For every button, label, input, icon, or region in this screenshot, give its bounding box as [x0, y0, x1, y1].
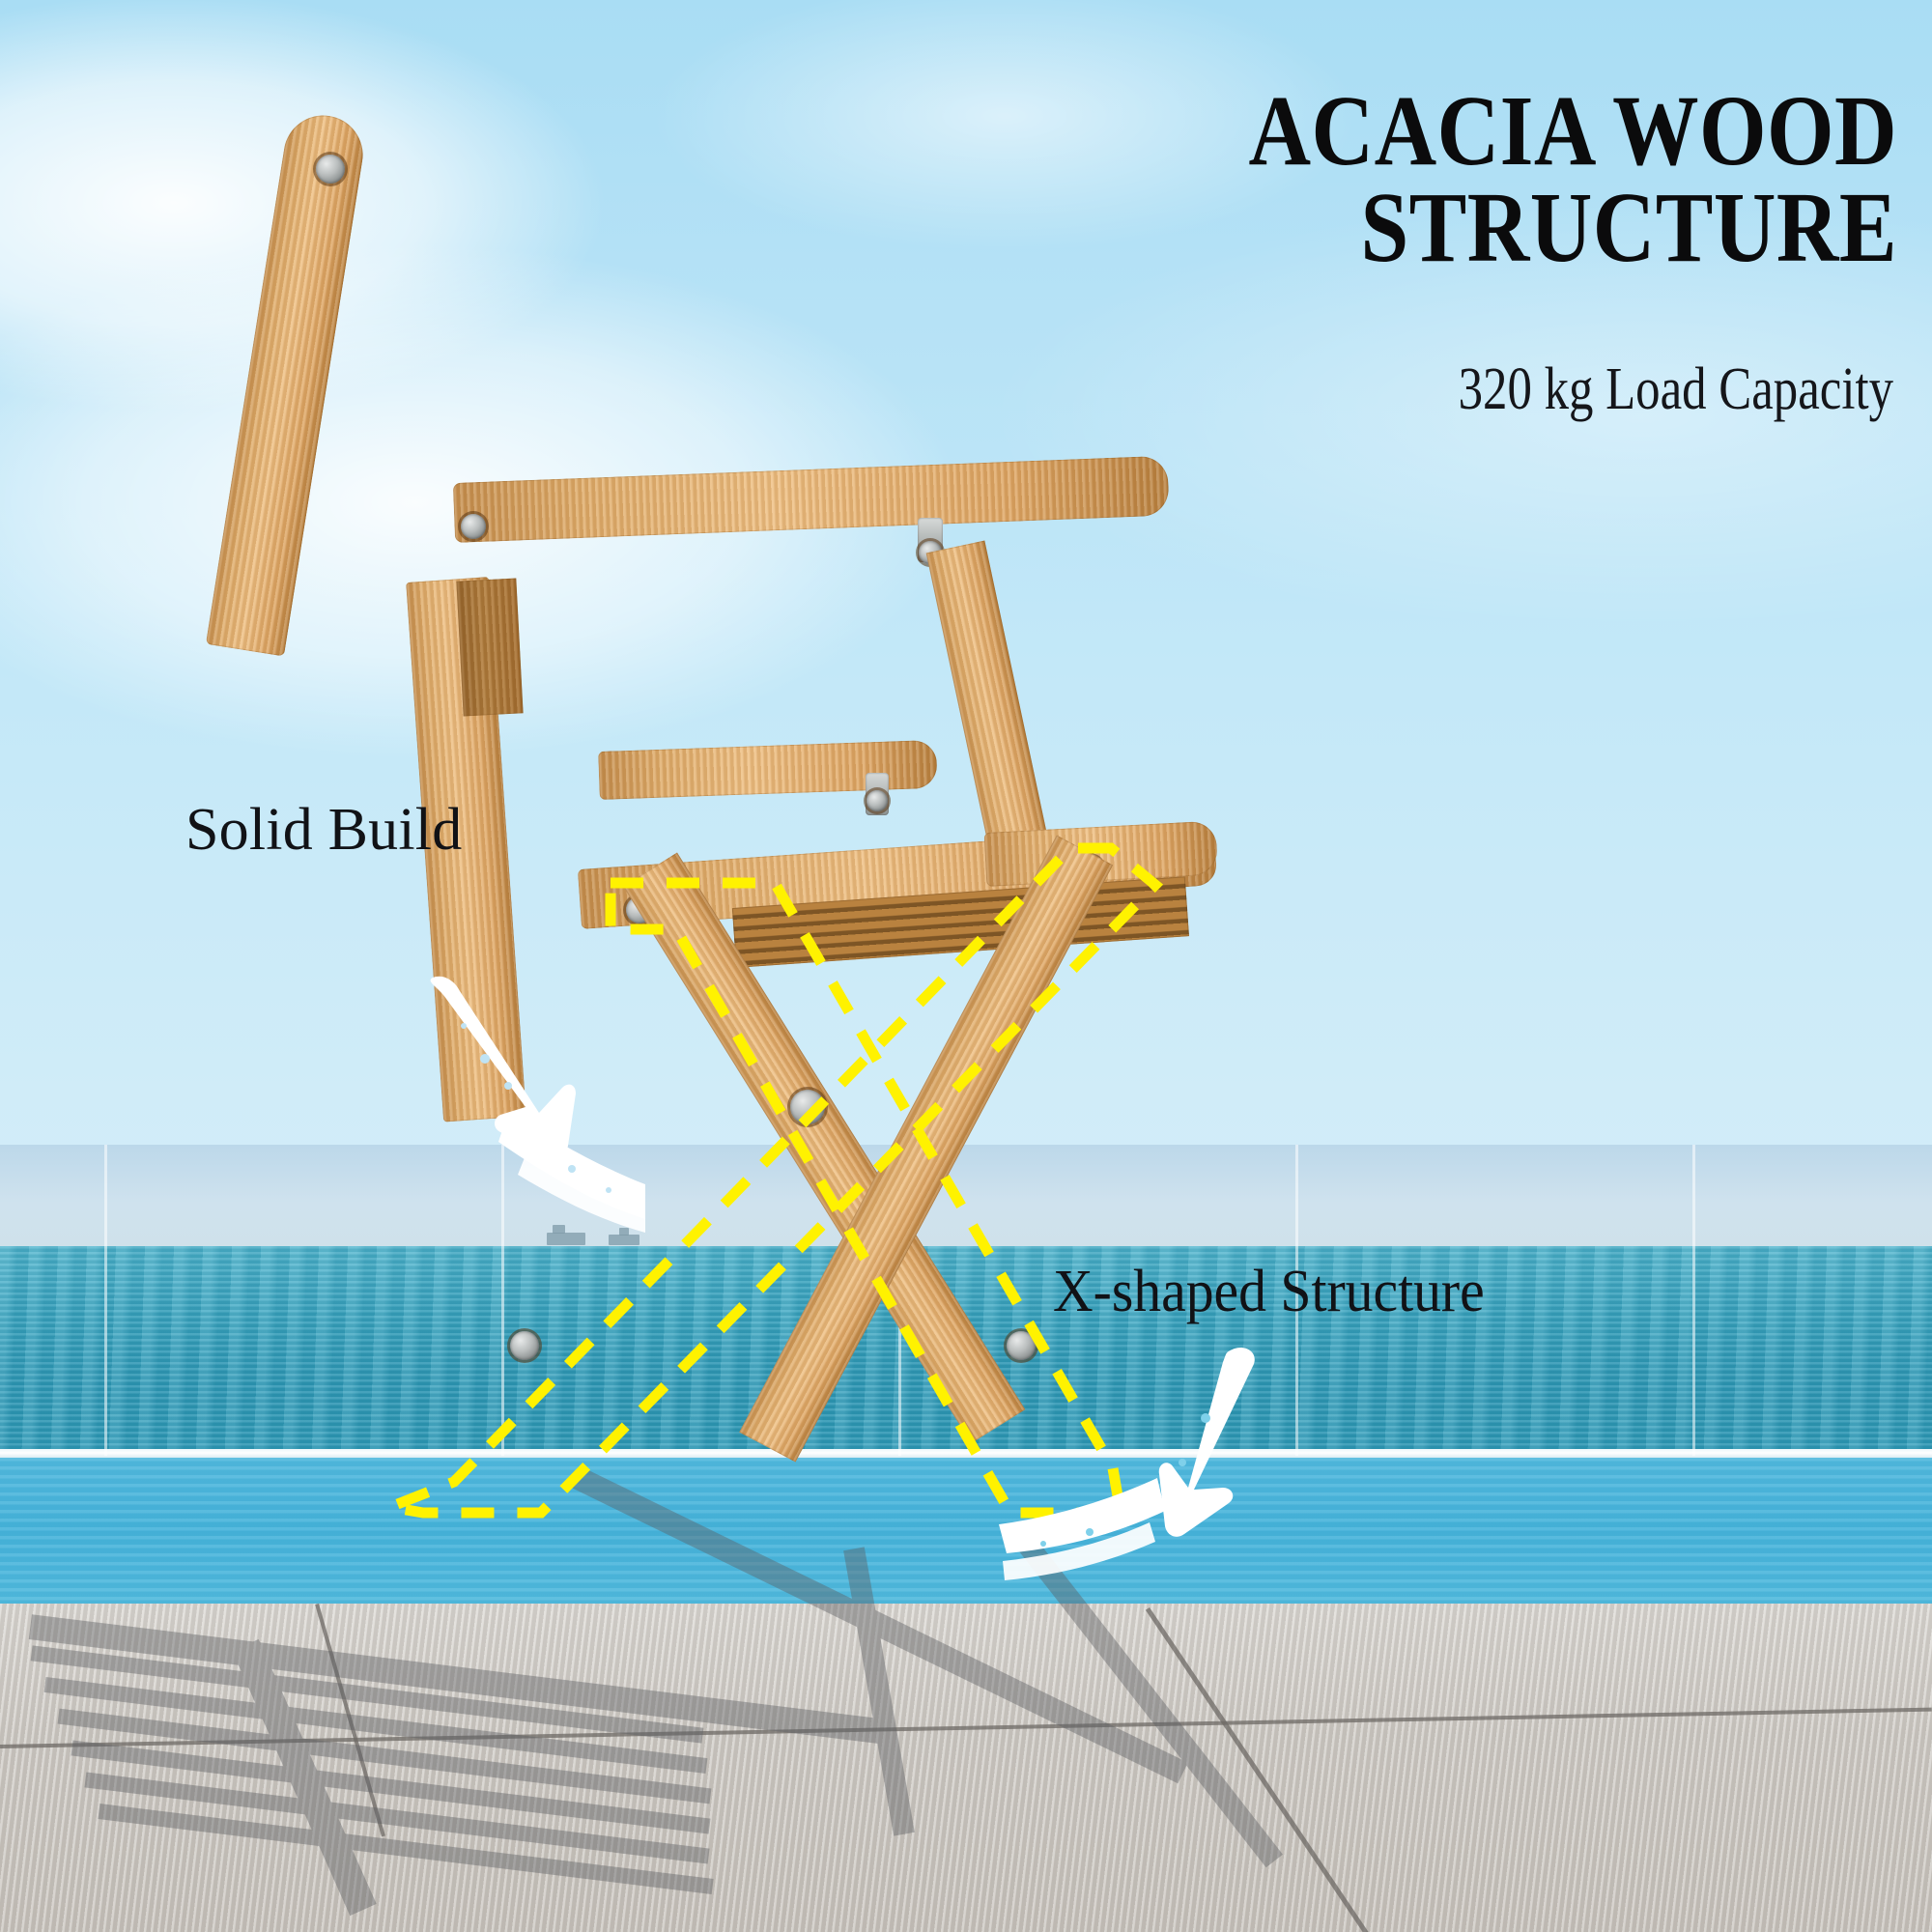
- folding-acacia-chair: [0, 0, 1932, 1932]
- bolt-icon: [510, 1331, 539, 1360]
- subtitle: 320 kg Load Capacity: [1022, 359, 1893, 419]
- bolt-icon: [790, 1090, 825, 1124]
- headline-line-2: STRUCTURE: [850, 180, 1897, 276]
- arrow-to-x-icon: [976, 1343, 1304, 1604]
- chair-rear-leg-upper: [926, 541, 1051, 866]
- chair-back-rail: [456, 578, 523, 716]
- bolt-icon: [316, 155, 345, 184]
- headline-line-1: ACACIA WOOD: [1249, 75, 1897, 186]
- callout-label-x-shaped-structure: X-shaped Structure: [1053, 1258, 1485, 1326]
- bolt-icon: [461, 514, 486, 539]
- bolt-icon: [867, 790, 888, 811]
- callout-label-solid-build: Solid Build: [185, 796, 462, 865]
- product-feature-image: ACACIA WOOD STRUCTURE 320 kg Load Capaci…: [0, 0, 1932, 1932]
- chair-armrest: [453, 456, 1170, 543]
- page-title: ACACIA WOOD STRUCTURE: [850, 83, 1897, 276]
- arrow-to-frame-icon: [319, 966, 647, 1236]
- chair-backrest-post: [206, 110, 369, 657]
